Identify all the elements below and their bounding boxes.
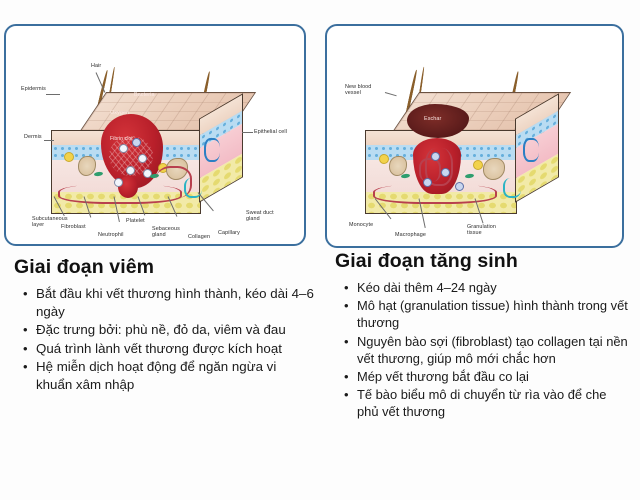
figure-label-eschar: Eschar	[424, 116, 441, 122]
figure-label-new-blood-vessel: New blood vessel	[345, 84, 385, 96]
neutrophil-cell	[119, 144, 128, 153]
figure-label-dermis: Dermis	[24, 134, 42, 140]
bullet-list-proliferation: Kéo dài thêm 4–24 ngày Mô hạt (granulati…	[335, 279, 631, 421]
figure-proliferative-phase: New blood vessel Eschar Monocyte Macroph…	[327, 26, 622, 246]
sebaceous-cell	[64, 152, 74, 162]
list-item: Bắt đầu khi vết thương hình thành, kéo d…	[36, 285, 314, 320]
figure-label-fibrin-clot: Fibrin clot	[110, 136, 133, 142]
list-item: Quá trình lành vết thương được kích hoạt	[36, 340, 314, 358]
leader-line	[46, 94, 60, 95]
figure-label-epithelial-cell: Epithelial cell	[254, 129, 294, 135]
list-item: Hệ miễn dịch hoạt động để ngăn ngừa vi k…	[36, 358, 314, 393]
figure-label-epidermis: Epidermis	[21, 86, 46, 92]
sebaceous-cell	[473, 160, 483, 170]
slide-canvas: Hair Epidermis Bacteria Oxygen Fibrin cl…	[0, 0, 640, 500]
figure-label-sweat-duct-gland: Sweat duct gland	[246, 210, 286, 222]
leader-line	[385, 92, 397, 96]
leader-line	[242, 132, 253, 133]
heading-proliferation: Giai đoạn tăng sinh	[335, 250, 631, 273]
neutrophil-cell	[138, 154, 147, 163]
macrophage-cell	[441, 168, 450, 177]
text-column-proliferation: Giai đoạn tăng sinh Kéo dài thêm 4–24 ng…	[335, 250, 631, 422]
platelet-cell	[126, 166, 135, 175]
heading-inflammation: Giai đoạn viêm	[14, 256, 314, 279]
panel-inflammation: Hair Epidermis Bacteria Oxygen Fibrin cl…	[4, 24, 306, 246]
list-item: Kéo dài thêm 4–24 ngày	[357, 279, 631, 296]
macrophage-cell	[431, 152, 440, 161]
figure-label-capillary: Capillary	[218, 230, 240, 236]
figure-label-macrophage: Macrophage	[395, 232, 426, 238]
figure-label-platelet: Platelet	[126, 218, 145, 224]
capillary-vessel	[373, 184, 497, 204]
figure-label-hair: Hair	[91, 63, 101, 69]
leader-line	[44, 140, 54, 141]
text-column-inflammation: Giai đoạn viêm Bắt đầu khi vết thương hì…	[14, 256, 314, 395]
figure-label-fibroblast: Fibroblast	[61, 224, 86, 230]
vein-vessel	[204, 138, 220, 162]
figure-label-granulation-tissue: Granulation tissue	[467, 224, 507, 236]
panel-proliferation: New blood vessel Eschar Monocyte Macroph…	[325, 24, 624, 248]
figure-label-bacteria: Bacteria	[134, 92, 155, 98]
vein-vessel	[523, 138, 539, 162]
figure-inflammatory-phase: Hair Epidermis Bacteria Oxygen Fibrin cl…	[6, 26, 304, 244]
bullet-list-inflammation: Bắt đầu khi vết thương hình thành, kéo d…	[14, 285, 314, 394]
monocyte-cell	[132, 138, 141, 147]
list-item: Mép vết thương bắt đầu co lại	[357, 368, 631, 385]
figure-label-oxygen: Oxygen	[110, 110, 129, 116]
sebaceous-cell	[379, 154, 389, 164]
figure-label-neutrophil: Neutrophil	[98, 232, 124, 238]
figure-label-sebaceous-gland: Sebaceous gland	[152, 226, 184, 238]
list-item: Mô hạt (granulation tissue) hình thành t…	[357, 297, 631, 331]
list-item: Nguyên bào sợi (fibroblast) tạo collagen…	[357, 333, 631, 367]
list-item: Đặc trưng bởi: phù nề, đỏ da, viêm và đa…	[36, 321, 314, 339]
list-item: Tế bào biểu mô di chuyển từ rìa vào để c…	[357, 386, 631, 420]
sweat-duct-vessel	[503, 178, 521, 198]
figure-label-collagen: Collagen	[188, 234, 210, 240]
figure-label-monocyte: Monocyte	[349, 222, 373, 228]
